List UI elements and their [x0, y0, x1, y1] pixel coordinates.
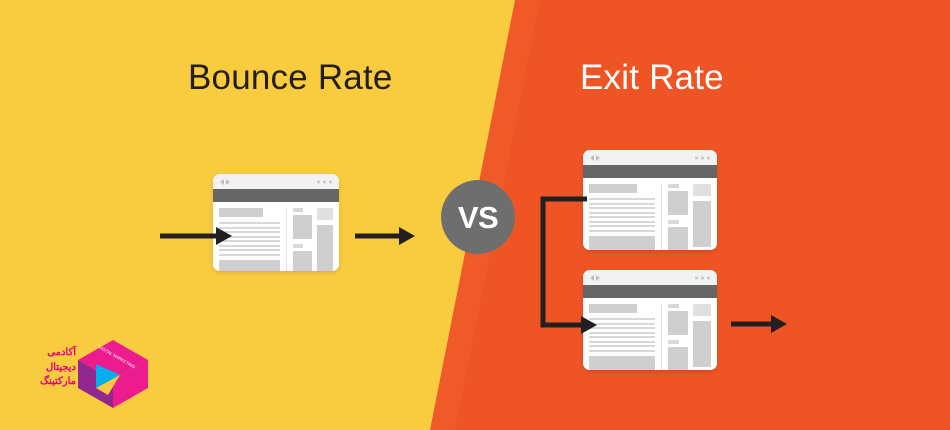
sidebar-top-row	[293, 208, 333, 271]
vs-label: VS	[458, 202, 498, 233]
triangle-right-icon[interactable]	[226, 179, 230, 185]
triangle-right-icon[interactable]	[596, 155, 600, 161]
sidebar-tall-block	[693, 321, 711, 367]
text-line	[589, 336, 655, 338]
sidebar-thumb	[668, 191, 688, 215]
sidebar-top-row	[668, 304, 711, 370]
text-line	[589, 345, 655, 347]
text-line	[219, 249, 280, 251]
brand-logo[interactable]: آکادمی دیجیتال مارکتینگ DIGITAL MARKETIN…	[14, 338, 152, 412]
nav-arrows[interactable]	[220, 179, 230, 185]
logo-wordmark: آکادمی دیجیتال مارکتینگ	[14, 346, 76, 390]
sidebar-label	[293, 244, 303, 248]
sidebar-thumb	[668, 227, 688, 250]
sidebar-label	[668, 220, 678, 224]
sidebar-thumb	[293, 215, 312, 239]
logo-line-2: دیجیتال	[14, 361, 76, 376]
sidebar-label	[668, 340, 678, 344]
sidebar-column	[662, 304, 711, 370]
hero-banner	[583, 165, 717, 178]
sidebar-label	[293, 208, 303, 212]
sidebar-tall-block	[317, 225, 333, 271]
three-dots-icon[interactable]	[317, 180, 332, 183]
infographic-canvas: Bounce Rate Exit Rate	[0, 0, 950, 430]
nav-arrows[interactable]	[590, 155, 600, 161]
sidebar-right	[317, 208, 333, 271]
dot-2	[701, 156, 704, 159]
dot-1	[317, 180, 320, 183]
bounce-exit-arrow	[355, 224, 415, 248]
sidebar-wide-block	[317, 208, 333, 220]
sidebar-thumb	[668, 347, 688, 370]
entry-arrow	[160, 224, 232, 248]
sidebar-thumb	[293, 251, 312, 271]
sidebar-right	[693, 304, 711, 370]
sidebar-wide-block	[693, 304, 711, 316]
page-flow-connector	[535, 195, 605, 335]
exit-rate-title: Exit Rate	[580, 58, 724, 98]
three-dots-icon[interactable]	[695, 276, 710, 279]
three-dots-icon[interactable]	[695, 156, 710, 159]
dot-2	[701, 276, 704, 279]
sidebar-left	[668, 184, 688, 250]
sidebar-tall-block	[693, 201, 711, 247]
bounce-rate-title: Bounce Rate	[188, 58, 393, 98]
sidebar-label	[668, 184, 678, 188]
exit-arrow	[731, 312, 787, 336]
dot-1	[695, 156, 698, 159]
sidebar-top-row	[668, 184, 711, 250]
sidebar-thumb	[668, 311, 688, 335]
article-heading-block	[589, 184, 637, 193]
triangle-left-icon[interactable]	[590, 155, 594, 161]
logo-line-1: آکادمی	[14, 346, 76, 361]
text-line	[589, 341, 655, 343]
browser-chrome-bar	[213, 174, 339, 189]
sidebar-column	[662, 184, 711, 250]
text-line	[589, 350, 655, 352]
footer-block	[589, 356, 655, 371]
hero-banner	[213, 189, 339, 202]
dot-3	[707, 276, 710, 279]
dot-2	[323, 180, 326, 183]
logo-line-3: مارکتینگ	[14, 375, 76, 390]
text-line	[219, 254, 280, 256]
browser-chrome-bar	[583, 150, 717, 165]
sidebar-left	[293, 208, 312, 271]
sidebar-label	[668, 304, 678, 308]
isometric-play-cube-logo: DIGITAL MARKETING	[76, 338, 150, 410]
dot-3	[707, 156, 710, 159]
sidebar-right	[693, 184, 711, 250]
sidebar-column	[287, 208, 333, 271]
bounce-landing-page-window[interactable]	[213, 174, 339, 271]
dot-1	[695, 276, 698, 279]
sidebar-wide-block	[693, 184, 711, 196]
dot-3	[329, 180, 332, 183]
sidebar-left	[668, 304, 688, 370]
vs-badge: VS	[441, 180, 515, 254]
article-heading-block	[219, 208, 263, 217]
footer-block	[219, 260, 280, 272]
triangle-left-icon[interactable]	[220, 179, 224, 185]
